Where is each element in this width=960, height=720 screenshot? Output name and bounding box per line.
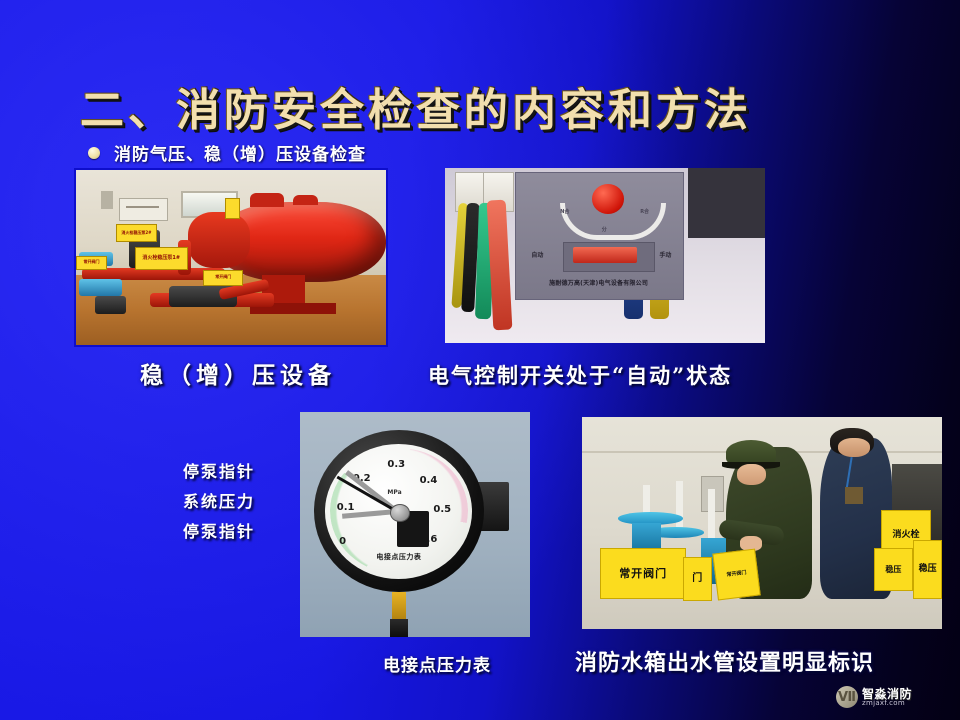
gauge-tick-0.3: 0.3: [387, 459, 405, 470]
gauge-annotation-labels: 停泵指针 系统压力 停泵指针: [183, 458, 255, 542]
sign-stabilizer-a: 稳压: [874, 548, 914, 590]
pressure-tank-secondary: [188, 212, 250, 268]
photo-pressure-gauge: 0 0.1 0.2 0.3 0.4 0.5 0.6 MPa 电接点压力表: [300, 412, 530, 637]
caption-photo3: 电接点压力表: [383, 651, 491, 676]
selector-switch-lever[interactable]: [573, 247, 637, 263]
photo-inspection-scene: 常开阀门 门 常开阀门 消火栓 稳压 稳压: [582, 417, 942, 629]
wall-notice-board: [119, 198, 168, 221]
manufacturer-text: 施耐德万高(天津)电气设备有限公司: [519, 278, 679, 287]
sign-normally-open-valve-main: 常开阀门: [600, 548, 686, 599]
gauge-connector: [390, 619, 408, 637]
watermark-url: zmjaxf.com: [862, 700, 912, 707]
valve-stem-c: [708, 489, 715, 544]
watermark-logo-icon: Ⅶ: [836, 686, 858, 708]
valve-block: [95, 296, 126, 314]
officer-face: [737, 464, 766, 485]
watermark: Ⅶ 智淼消防 zmjaxf.com: [836, 682, 952, 712]
bullet-dot-icon: [88, 147, 100, 159]
gauge-unit-label: MPa: [387, 489, 401, 496]
watermark-brand: 智淼消防: [862, 688, 912, 700]
gauge-tick-0.4: 0.4: [420, 475, 438, 486]
gauge-label-2: 系统压力: [183, 488, 255, 512]
gauge-dial-text: 电接点压力表: [348, 552, 449, 562]
gauge-label-3: 停泵指针: [183, 518, 255, 542]
blue-pump-a: [79, 279, 122, 297]
sign-tank-tag: [225, 198, 241, 219]
gauge-label-1: 停泵指针: [183, 458, 255, 482]
worker-badge: [845, 487, 863, 504]
switch-label-auto: 自动: [531, 250, 543, 259]
tank-dome-b: [293, 195, 318, 206]
switch-label-manual: 手动: [659, 250, 671, 259]
dark-enclosure: [688, 168, 765, 238]
page-title: 二、消防安全检查的内容和方法: [80, 74, 880, 138]
bullet-label: 消防气压、稳（增）压设备检查: [114, 140, 366, 165]
bullet-row: 消防气压、稳（增）压设备检查: [88, 140, 366, 165]
sign-pump-2: 消火栓稳压泵2#: [116, 224, 156, 242]
sign-partial-door: 门: [683, 557, 712, 602]
gauge-tick-0: 0: [339, 536, 346, 547]
worker-face: [838, 438, 870, 457]
sign-stabilizer-b: 稳压: [913, 540, 942, 599]
gauge-tick-0.1: 0.1: [337, 502, 355, 513]
sign-valve-1: 常开阀门: [76, 256, 107, 270]
gauge-hub: [390, 504, 410, 522]
sign-held-by-inspector: 常开阀门: [713, 548, 762, 600]
wall-box: [101, 191, 113, 209]
arc-label-left: N合: [560, 208, 569, 215]
photo-control-panel: N合 R合 分 自动 手动 施耐德万高(天津)电气设备有限公司: [445, 168, 765, 343]
photo-pump-room: 消火栓稳压泵1# 消火栓稳压泵2# 常开阀门 常开阀门: [74, 168, 388, 347]
caption-photo4: 消防水箱出水管设置明显标识: [575, 645, 874, 677]
gauge-tick-0.5: 0.5: [433, 504, 451, 515]
caption-photo1: 稳（增）压设备: [140, 356, 336, 390]
sign-valve-2: 常开阀门: [203, 270, 243, 286]
arc-label-bottom: 分: [602, 226, 607, 233]
slide-canvas: 二、消防安全检查的内容和方法 消防气压、稳（增）压设备检查: [0, 0, 960, 720]
arc-label-right: R合: [640, 208, 649, 215]
watermark-text: 智淼消防 zmjaxf.com: [862, 688, 912, 707]
tank-dome-a: [250, 193, 284, 207]
caption-photo2: 电气控制开关处于“自动”状态: [428, 360, 732, 390]
sign-pump-1: 消火栓稳压泵1#: [135, 247, 188, 270]
